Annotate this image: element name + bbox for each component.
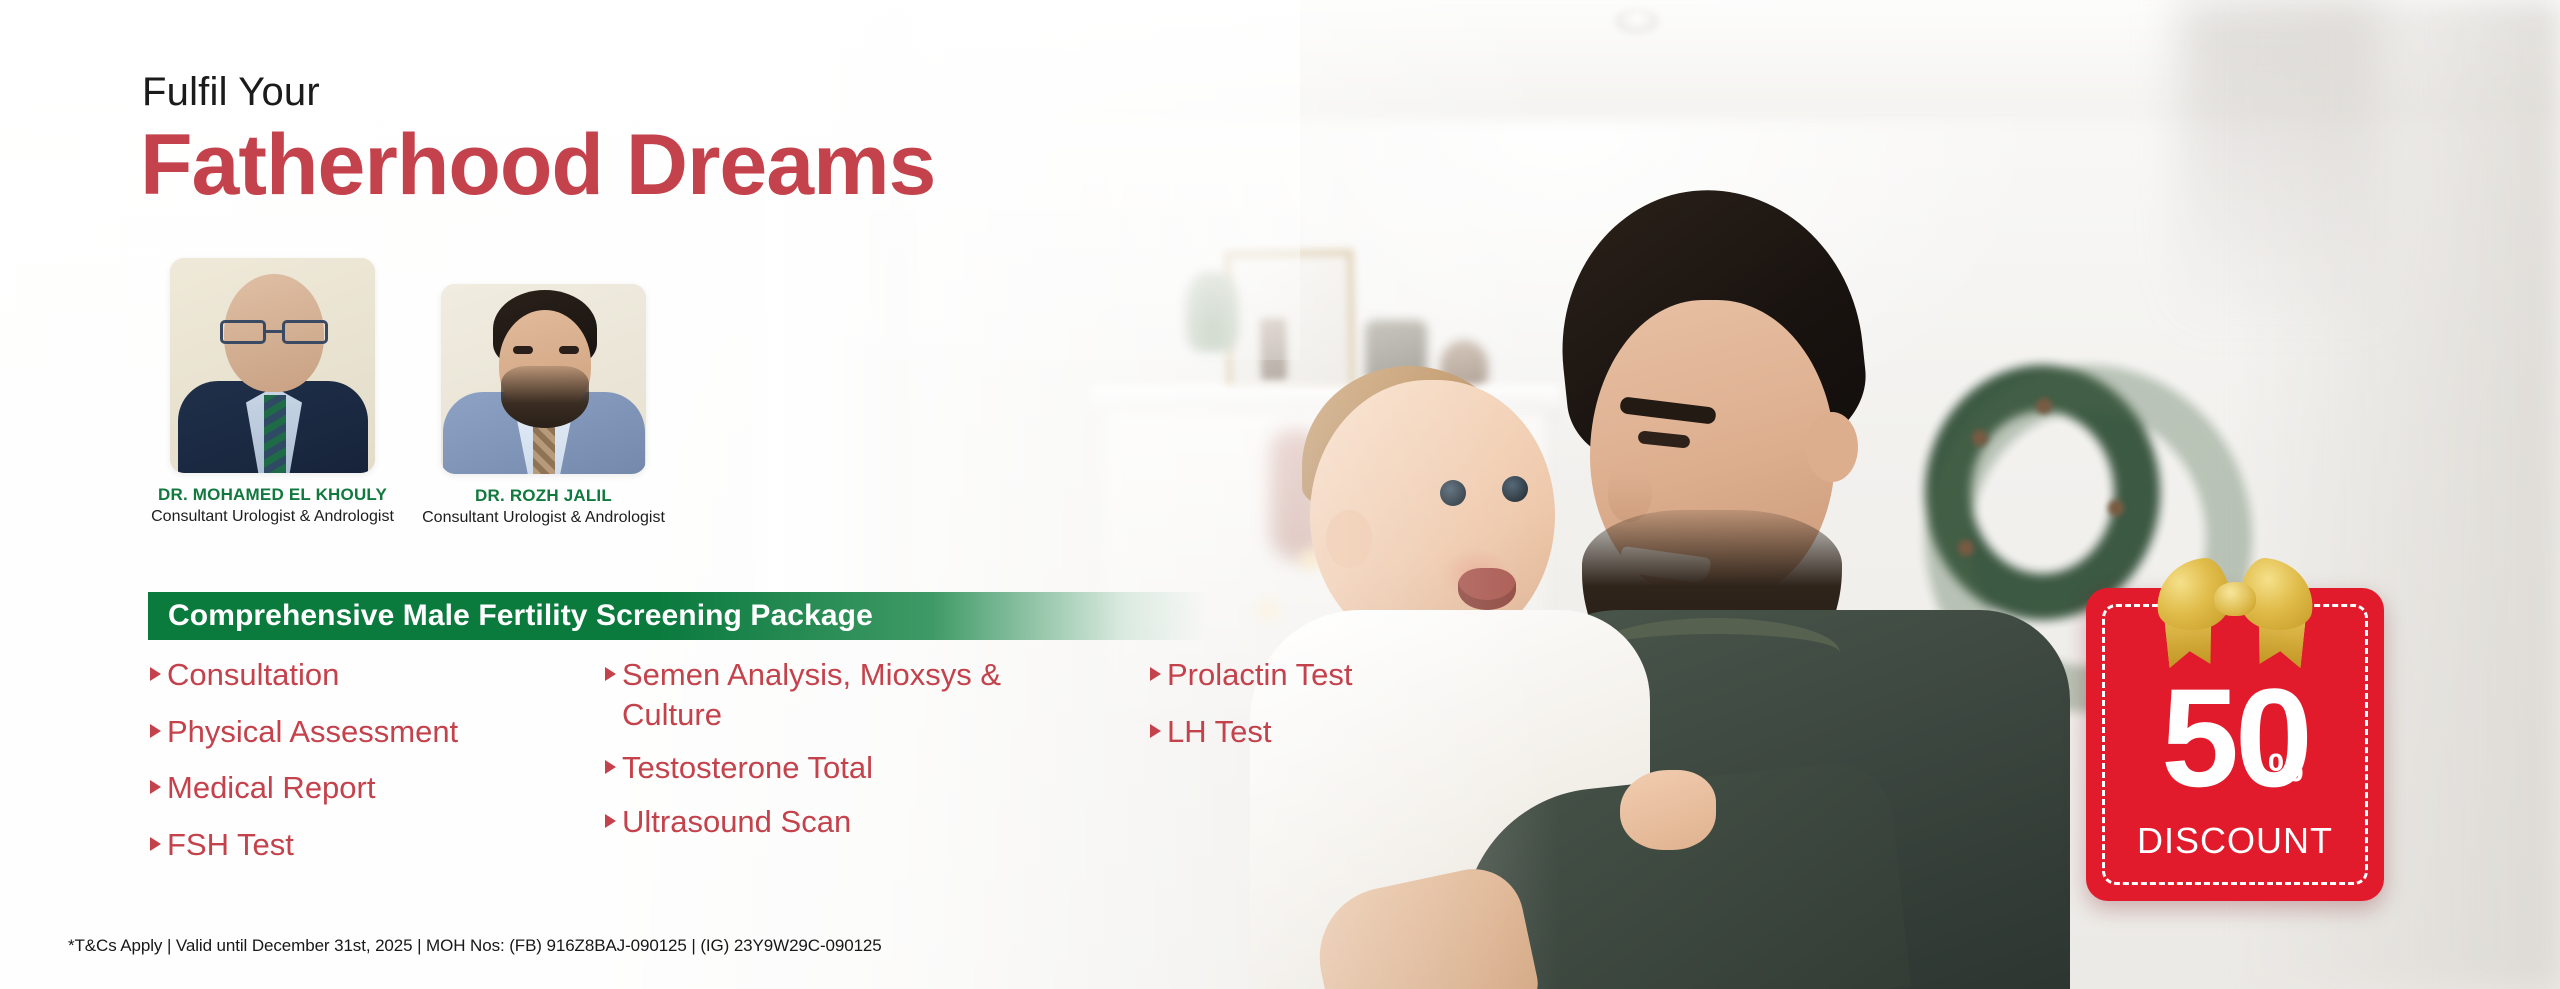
headline-eyebrow: Fulfil Your: [142, 70, 320, 115]
services-column-2: Semen Analysis, Mioxsys & Culture Testos…: [605, 655, 1075, 856]
triangle-bullet-icon: [605, 760, 616, 774]
triangle-bullet-icon: [150, 667, 161, 681]
service-item: Prolactin Test: [1150, 655, 1480, 695]
disclaimer-text: *T&Cs Apply | Valid until December 31st,…: [68, 936, 882, 956]
doctor-2-title: Consultant Urologist & Andrologist: [422, 509, 665, 527]
doctors-row: DR. MOHAMED EL KHOULY Consultant Urologi…: [170, 258, 646, 527]
doctor-1-tie: [264, 395, 286, 473]
service-item: Testosterone Total: [605, 748, 1075, 788]
doctor-2-name: DR. ROZH JALIL: [475, 486, 612, 506]
service-label: LH Test: [1167, 712, 1272, 752]
services-column-1: Consultation Physical Assessment Medical…: [150, 655, 570, 882]
discount-badge: 50 % DISCOUNT: [2086, 588, 2384, 901]
triangle-bullet-icon: [150, 837, 161, 851]
discount-label: DISCOUNT: [2086, 820, 2384, 862]
promotional-banner: Fulfil Your Fatherhood Dreams DR. MOHAME…: [0, 0, 2560, 989]
discount-value: 50: [2086, 668, 2384, 808]
service-label: Testosterone Total: [622, 748, 873, 788]
service-item: Semen Analysis, Mioxsys & Culture: [605, 655, 1075, 734]
service-label: Semen Analysis, Mioxsys & Culture: [622, 655, 1075, 734]
banner-content: Fulfil Your Fatherhood Dreams DR. MOHAME…: [0, 0, 2560, 989]
service-label: Medical Report: [167, 768, 375, 808]
triangle-bullet-icon: [150, 780, 161, 794]
triangle-bullet-icon: [1150, 724, 1161, 738]
doctor-1-name: DR. MOHAMED EL KHOULY: [158, 485, 387, 505]
percent-symbol: %: [2268, 748, 2304, 788]
triangle-bullet-icon: [150, 724, 161, 738]
doctor-2-avatar: [441, 284, 646, 474]
package-title: Comprehensive Male Fertility Screening P…: [148, 599, 873, 633]
doctor-1-title: Consultant Urologist & Andrologist: [151, 508, 394, 526]
service-item: FSH Test: [150, 825, 570, 865]
service-label: Consultation: [167, 655, 339, 695]
doctor-card-1: DR. MOHAMED EL KHOULY Consultant Urologi…: [170, 258, 375, 526]
service-item: Medical Report: [150, 768, 570, 808]
services-column-3: Prolactin Test LH Test: [1150, 655, 1480, 768]
service-label: FSH Test: [167, 825, 294, 865]
doctor-2-eyes: [513, 346, 579, 354]
bow-knot: [2214, 582, 2256, 616]
service-item: LH Test: [1150, 712, 1480, 752]
service-label: Physical Assessment: [167, 712, 458, 752]
package-title-bar: Comprehensive Male Fertility Screening P…: [148, 592, 1208, 640]
service-label: Ultrasound Scan: [622, 802, 851, 842]
glasses-icon: [220, 320, 328, 344]
service-item: Consultation: [150, 655, 570, 695]
service-item: Ultrasound Scan: [605, 802, 1075, 842]
triangle-bullet-icon: [1150, 667, 1161, 681]
doctor-1-avatar: [170, 258, 375, 473]
service-item: Physical Assessment: [150, 712, 570, 752]
page-title: Fatherhood Dreams: [140, 120, 935, 210]
triangle-bullet-icon: [605, 814, 616, 828]
gold-bow-icon: [2160, 552, 2310, 672]
triangle-bullet-icon: [605, 667, 616, 681]
doctor-2-beard: [501, 366, 589, 428]
service-label: Prolactin Test: [1167, 655, 1353, 695]
doctor-card-2: DR. ROZH JALIL Consultant Urologist & An…: [441, 284, 646, 527]
